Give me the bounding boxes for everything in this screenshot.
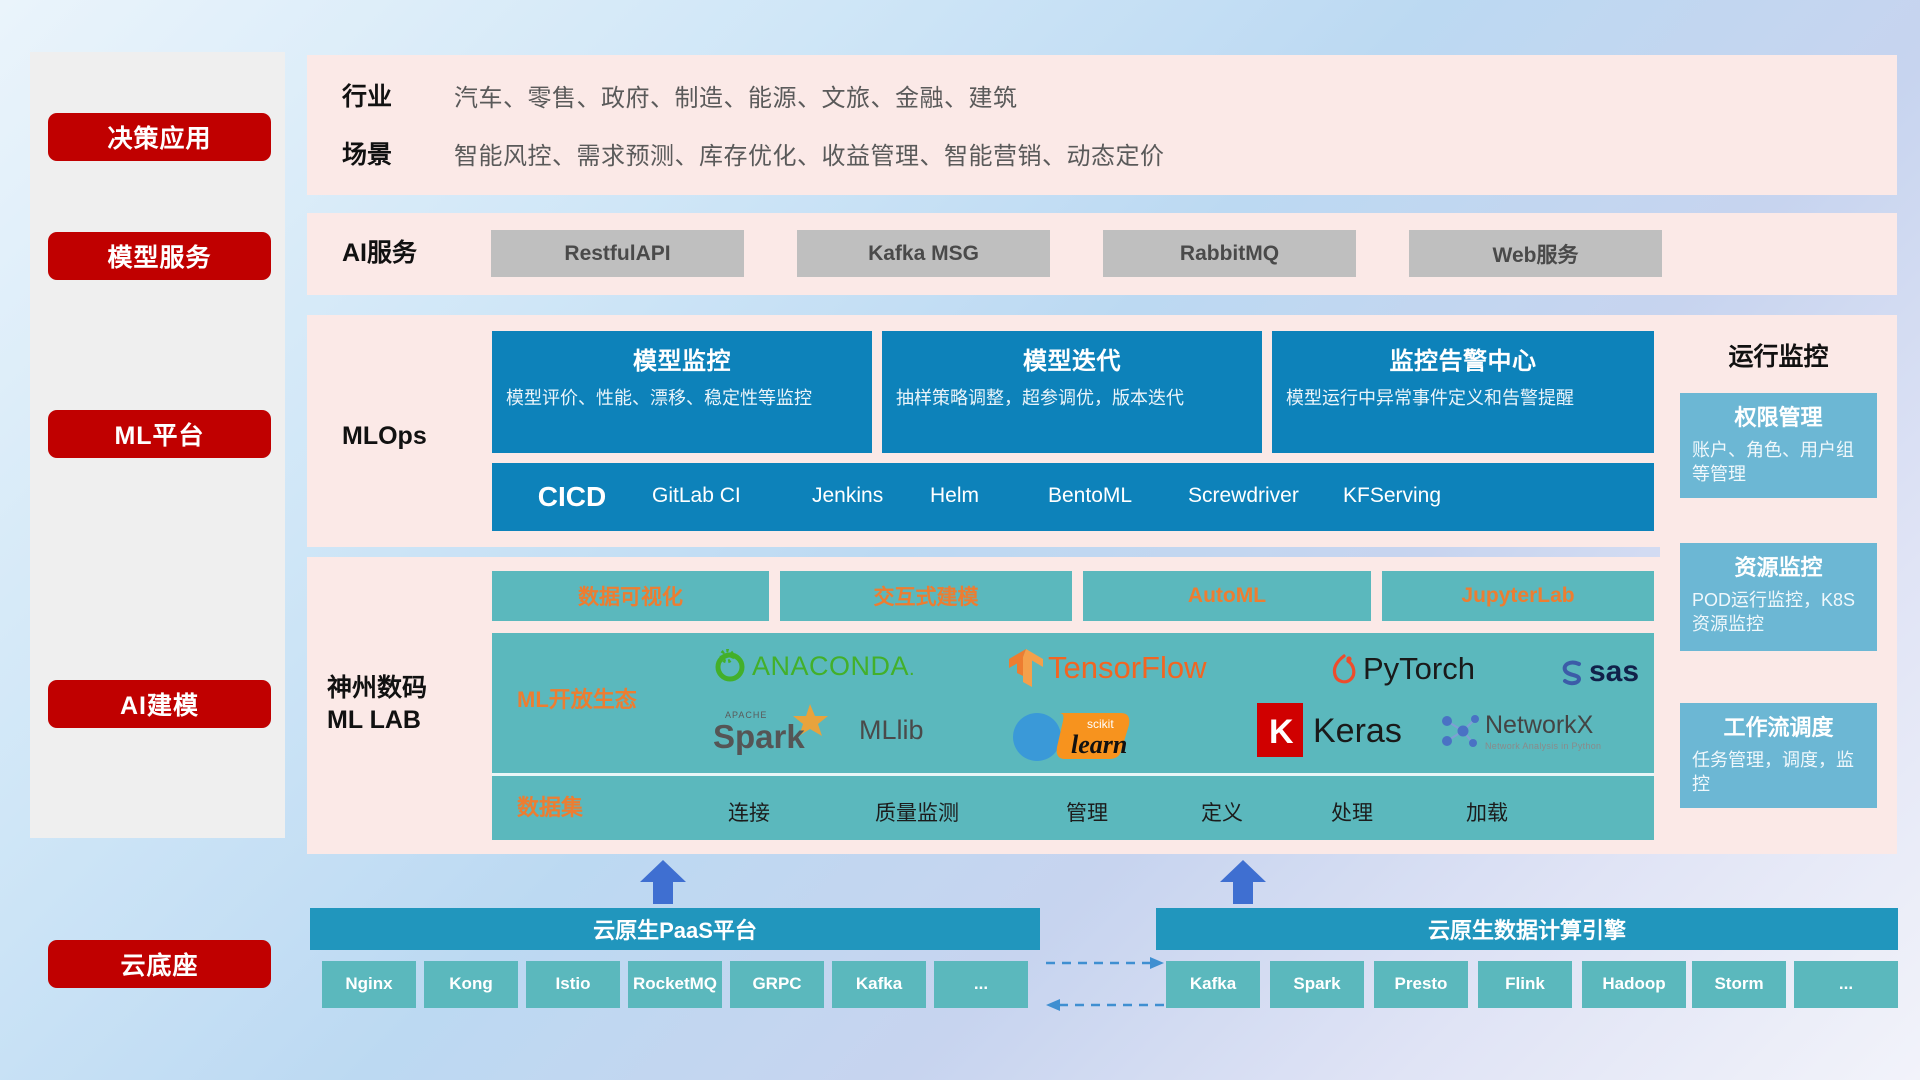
modeling-tab-interactive-modeling[interactable]: 交互式建模 [780, 571, 1072, 621]
tab-label: 数据可视化 [578, 581, 683, 611]
tech-chip-kong[interactable]: Kong [424, 961, 518, 1008]
industry-row: 行业 汽车、零售、政府、制造、能源、文旅、金融、建筑 [342, 77, 1018, 113]
tech-chip-more-right[interactable]: ... [1794, 961, 1898, 1008]
dataset-item-connect[interactable]: 连接 [689, 797, 809, 827]
keras-logo: K Keras [1257, 703, 1402, 759]
modeling-tab-jupyterlab[interactable]: JupyterLab [1382, 571, 1654, 621]
mlops-label: MLOps [342, 420, 427, 452]
card-desc: 模型评价、性能、漂移、稳定性等监控 [506, 386, 858, 411]
service-chip-web-service[interactable]: Web服务 [1409, 230, 1662, 277]
cicd-item-bentoml[interactable]: BentoML [1048, 463, 1188, 509]
stage-pill-ai-modeling[interactable]: AI建模 [48, 680, 271, 728]
tech-chip-spark[interactable]: Spark [1270, 961, 1364, 1008]
card-desc: 模型运行中异常事件定义和告警提醒 [1286, 386, 1640, 411]
cicd-bar: CICD GitLab CI Jenkins Helm BentoML Scre… [492, 463, 1654, 531]
svg-text:learn: learn [1071, 730, 1127, 759]
mlops-card-model-iteration[interactable]: 模型迭代 抽样策略调整，超参调优，版本迭代 [882, 331, 1262, 453]
stage-pill-cloud-base[interactable]: 云底座 [48, 940, 271, 988]
dataset-label: 数据集 [517, 795, 583, 821]
tech-chip-istio[interactable]: Istio [526, 961, 620, 1008]
tab-label: 交互式建模 [874, 581, 979, 611]
monitoring-column: 运行监控 权限管理 账户、角色、用户组等管理 资源监控 POD运行监控，K8S资… [1660, 315, 1897, 854]
tech-chip-kafka-left[interactable]: Kafka [832, 961, 926, 1008]
cicd-item-gitlab-ci[interactable]: GitLab CI [652, 463, 812, 509]
tensorflow-logo: TensorFlow [1007, 647, 1207, 689]
ml-ecosystem-label: ML开放生态 [517, 687, 637, 713]
card-desc: 账户、角色、用户组等管理 [1692, 438, 1865, 487]
card-title: 模型迭代 [896, 341, 1248, 376]
card-desc: 任务管理，调度，监控 [1692, 748, 1865, 797]
stage-label: 模型服务 [107, 238, 211, 274]
chip-label: RabbitMQ [1180, 242, 1279, 266]
architecture-diagram: 决策应用 模型服务 ML平台 AI建模 云底座 行业 汽车、零售、政府、制造、能… [0, 0, 1920, 1080]
cloud-data-engine-bar[interactable]: 云原生数据计算引擎 [1156, 908, 1898, 950]
monitoring-card-workflow[interactable]: 工作流调度 任务管理，调度，监控 [1680, 703, 1877, 808]
modeling-tab-data-visualization[interactable]: 数据可视化 [492, 571, 769, 621]
dataset-item-manage[interactable]: 管理 [1027, 797, 1147, 827]
stage-pill-decision-app[interactable]: 决策应用 [48, 113, 271, 161]
networkx-logo: NetworkX Network Analysis in Python [1435, 709, 1601, 755]
card-title: 资源监控 [1692, 550, 1865, 582]
tab-label: AutoML [1188, 584, 1266, 608]
mlops-card-model-monitoring[interactable]: 模型监控 模型评价、性能、漂移、稳定性等监控 [492, 331, 872, 453]
chip-label: Web服务 [1493, 239, 1579, 269]
application-band: 行业 汽车、零售、政府、制造、能源、文旅、金融、建筑 场景 智能风控、需求预测、… [307, 55, 1897, 195]
svg-text:K: K [1269, 713, 1294, 751]
cicd-item-screwdriver[interactable]: Screwdriver [1188, 463, 1343, 509]
service-chip-rabbitmq[interactable]: RabbitMQ [1103, 230, 1356, 277]
scikit-learn-logo: scikit learn [1009, 707, 1149, 763]
monitoring-card-resource[interactable]: 资源监控 POD运行监控，K8S资源监控 [1680, 543, 1877, 651]
service-chip-restfulapi[interactable]: RestfulAPI [491, 230, 744, 277]
tech-chip-storm[interactable]: Storm [1692, 961, 1786, 1008]
card-desc: POD运行监控，K8S资源监控 [1692, 588, 1865, 637]
dataset-item-load[interactable]: 加载 [1427, 797, 1547, 827]
tech-chip-kafka-right[interactable]: Kafka [1166, 961, 1260, 1008]
chip-label: Kafka MSG [868, 242, 979, 266]
monitoring-card-permission[interactable]: 权限管理 账户、角色、用户组等管理 [1680, 393, 1877, 498]
card-title: 权限管理 [1692, 400, 1865, 432]
svg-text:scikit: scikit [1087, 717, 1114, 731]
tech-chip-presto[interactable]: Presto [1374, 961, 1468, 1008]
scenario-row: 场景 智能风控、需求预测、库存优化、收益管理、智能营销、动态定价 [342, 135, 1165, 171]
svg-text:Spark: Spark [713, 718, 805, 755]
ai-service-label: AI服务 [342, 237, 417, 269]
modeling-tab-automl[interactable]: AutoML [1083, 571, 1371, 621]
tab-label: JupyterLab [1461, 584, 1574, 608]
stage-pill-model-service[interactable]: 模型服务 [48, 232, 271, 280]
stage-label: ML平台 [114, 416, 204, 452]
stage-pill-ml-platform[interactable]: ML平台 [48, 410, 271, 458]
dataset-item-define[interactable]: 定义 [1162, 797, 1282, 827]
stage-label: 决策应用 [107, 119, 211, 155]
service-chip-kafka-msg[interactable]: Kafka MSG [797, 230, 1050, 277]
ai-service-band: AI服务 RestfulAPI Kafka MSG RabbitMQ Web服务 [307, 213, 1897, 295]
industry-values: 汽车、零售、政府、制造、能源、文旅、金融、建筑 [454, 78, 1018, 113]
mlops-band: MLOps 模型监控 模型评价、性能、漂移、稳定性等监控 模型迭代 抽样策略调整… [307, 315, 1677, 547]
bar-label: 云原生PaaS平台 [593, 913, 757, 945]
stage-label: 云底座 [120, 946, 198, 982]
spark-mllib-logo: APACHE Spark MLlib [707, 702, 924, 758]
cicd-item-jenkins[interactable]: Jenkins [812, 463, 930, 509]
mlops-card-alert-center[interactable]: 监控告警中心 模型运行中异常事件定义和告警提醒 [1272, 331, 1654, 453]
bar-label: 云原生数据计算引擎 [1428, 913, 1626, 945]
scenario-values: 智能风控、需求预测、库存优化、收益管理、智能营销、动态定价 [454, 136, 1165, 171]
bidirectional-link-arrows [1046, 955, 1166, 1015]
card-title: 监控告警中心 [1286, 341, 1640, 376]
cicd-item-kfserving[interactable]: KFServing [1343, 463, 1483, 509]
industry-label: 行业 [342, 77, 454, 113]
dataset-item-process[interactable]: 处理 [1292, 797, 1412, 827]
monitoring-title: 运行监控 [1660, 337, 1897, 373]
card-title: 工作流调度 [1692, 710, 1865, 742]
tech-chip-rocketmq[interactable]: RocketMQ [628, 961, 722, 1008]
stage-label: AI建模 [120, 686, 199, 722]
card-desc: 抽样策略调整，超参调优，版本迭代 [896, 386, 1248, 411]
ai-modeling-band: 神州数码 ML LAB 数据可视化 交互式建模 AutoML JupyterLa… [307, 557, 1677, 854]
card-title: 模型监控 [506, 341, 858, 376]
scenario-label: 场景 [342, 135, 454, 171]
arrow-up-left [640, 860, 686, 909]
tech-chip-grpc[interactable]: GRPC [730, 961, 824, 1008]
dataset-item-quality-monitor[interactable]: 质量监测 [837, 797, 997, 827]
cloud-paas-bar[interactable]: 云原生PaaS平台 [310, 908, 1040, 950]
pytorch-logo: PyTorch [1329, 651, 1475, 687]
tech-chip-nginx[interactable]: Nginx [322, 961, 416, 1008]
chip-label: RestfulAPI [564, 242, 670, 266]
sas-logo: sas [1557, 655, 1639, 689]
cicd-title: CICD [492, 463, 652, 513]
tech-chip-flink[interactable]: Flink [1478, 961, 1572, 1008]
cicd-item-helm[interactable]: Helm [930, 463, 1048, 509]
anaconda-logo: ANACONDA. [713, 649, 915, 683]
tech-chip-more-left[interactable]: ... [934, 961, 1028, 1008]
ml-lab-label: 神州数码 ML LAB [327, 672, 427, 736]
tech-chip-hadoop[interactable]: Hadoop [1582, 961, 1686, 1008]
arrow-up-right [1220, 860, 1266, 909]
